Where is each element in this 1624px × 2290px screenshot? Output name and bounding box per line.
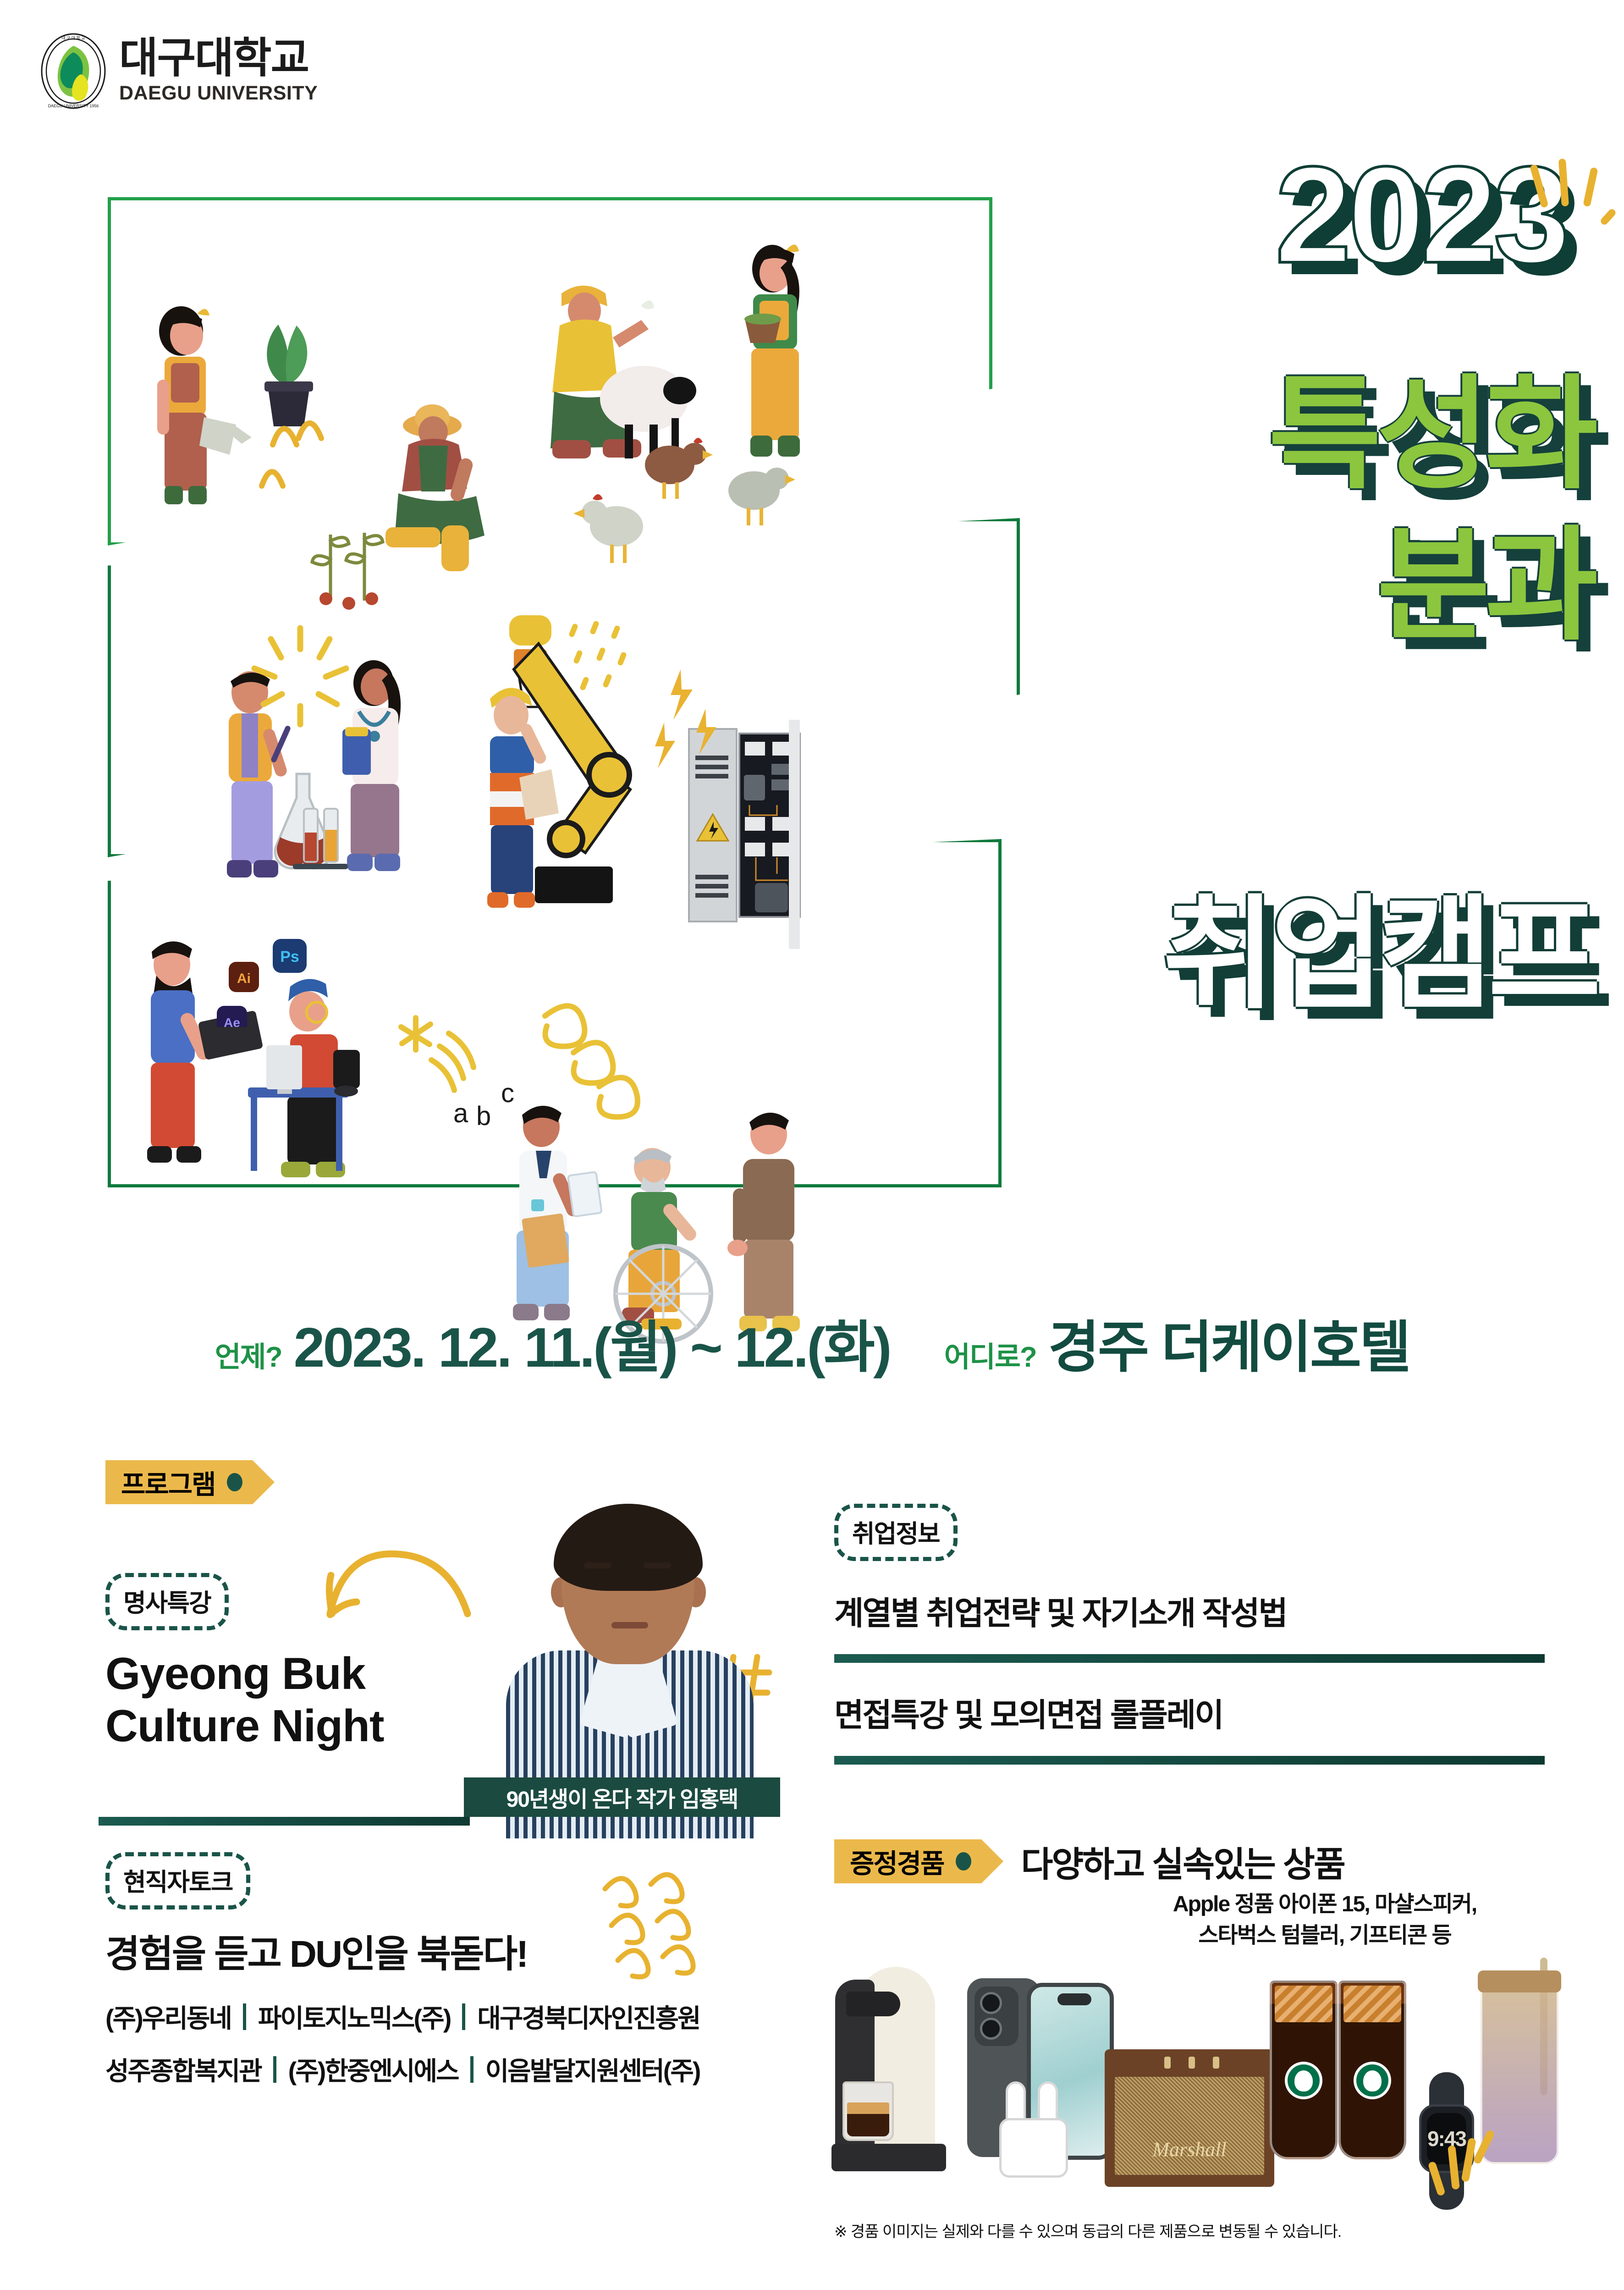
gift-detail-line1: Apple 정품 아이폰 15, 마샬스피커, [1109,1889,1540,1920]
job-info-badge: 취업정보 [834,1504,958,1561]
logo-english-name: DAEGU UNIVERSITY [119,82,318,105]
gift-headline: 다양하고 실속있는 상품 [1021,1836,1344,1887]
practitioner-talk-badge: 현직자토크 [105,1852,250,1909]
portrait-eye-right [646,1576,668,1584]
practitioner-talk-badge-wrap: 현직자토크 [105,1852,250,1909]
prize-sparkle-icon [1421,2118,1513,2205]
company-name: 파이토지노믹스(주) [258,1998,450,2035]
title-line-specialization: 특성화 [1268,374,1594,495]
program-tag-label: 프로그램 [121,1463,215,1501]
chicken-grey-icon [708,454,804,536]
gift-tag-dot-icon [956,1852,971,1871]
crop-plants-icon [305,491,433,610]
svg-text:a: a [453,1098,468,1128]
svg-text:Ae: Ae [224,1015,240,1027]
program-tag-dot-icon [227,1473,242,1491]
curved-arrow-icon [312,1522,481,1623]
company-separator [462,2003,465,2030]
job-info-item: 면접특강 및 모의면접 롤플레이 [834,1689,1545,1736]
company-name: 성주종합복지관 [105,2051,261,2088]
left-divider-rule [99,1817,470,1826]
when-label: 언제? [215,1334,282,1375]
program-tag: 프로그램 [105,1460,253,1504]
gift-tag-label: 증정경품 [850,1842,944,1881]
job-info-divider-rule [834,1654,1545,1663]
gift-detail: Apple 정품 아이폰 15, 마샬스피커, 스타벅스 텀블러, 기프티콘 등 [1109,1889,1540,1951]
company-list: (주)우리동네 파이토지노믹스(주) 대구경북디자인진흥원 성주종합복지관 (주… [105,1998,807,2103]
doodle-swirl-lines [596,1871,724,1981]
job-info-column: 취업정보 계열별 취업전략 및 자기소개 작성법 면접특강 및 모의면접 롤플레… [834,1504,1545,1765]
portrait-mouth [611,1622,648,1628]
svg-text:Ps: Ps [280,948,299,966]
celebrity-lecture-badge: 명사특강 [105,1573,229,1630]
marshall-speaker-image: Marshall [1105,2049,1274,2187]
adobe-app-icons: Ps Ai Ae [213,935,332,1027]
portrait-eye-left [587,1576,609,1584]
gift-header-row: 증정경품 다양하고 실속있는 상품 [834,1836,1344,1887]
company-name: 이음발달지원센터(주) [485,2051,700,2088]
title-line-division: 분과 [1377,525,1594,646]
gift-tag: 증정경품 [834,1839,981,1883]
svg-text:DAEGU UNIVERSITY 1956: DAEGU UNIVERSITY 1956 [48,104,99,108]
portrait-hair [554,1504,703,1591]
company-separator [243,2003,246,2030]
company-separator [273,2056,276,2083]
chicken-white-icon [571,486,667,573]
doodle-dots-rain [562,619,653,720]
airpods-image [990,2081,1082,2182]
title-line-job-camp: 취업캠프 [551,894,1596,1015]
company-name: 대구경북디자인진흥원 [477,1998,699,2035]
doodle-sparkle-rays [236,619,364,747]
university-logo: 대 구 대 학 교 DAEGU UNIVERSITY 1956 대구대학교 DA… [39,32,318,110]
svg-text:Ai: Ai [237,971,251,986]
company-separator [470,2056,473,2083]
job-info-divider-rule [834,1756,1545,1765]
lightning-bolts-icon [653,660,736,798]
where-label: 어디로? [944,1334,1036,1375]
logo-korean-name: 대구대학교 [119,37,318,79]
practitioner-talk-headline: 경험을 듣고 DU인을 북돋다! [105,1923,528,1978]
title-year: 2023 [923,151,1596,278]
company-name: (주)우리동네 [105,1998,231,2035]
illustration-area: Ps Ai Ae a b c [108,197,1024,1229]
title-sparkle-icon [1533,151,1611,234]
university-emblem-icon: 대 구 대 학 교 DAEGU UNIVERSITY 1956 [39,32,107,110]
company-row: (주)우리동네 파이토지노믹스(주) 대구경북디자인진흥원 [105,1998,807,2035]
doodle-spiral [529,995,681,1137]
portrait-brow-right [644,1562,671,1568]
event-date-venue-bar: 언제? 2023. 12. 11.(월) ~ 12.(화) 어디로? 경주 더케… [0,1302,1624,1383]
svg-text:대 구 대 학 교: 대 구 대 학 교 [61,36,85,40]
where-value: 경주 더케이호텔 [1048,1302,1409,1383]
nespresso-machine-image [830,1967,949,2173]
job-info-item: 계열별 취업전략 및 자기소개 작성법 [834,1588,1545,1634]
company-name: (주)한중엔시에스 [288,2051,458,2088]
portrait-brow-left [584,1562,611,1568]
company-row: 성주종합복지관 (주)한중엔시에스 이음발달지원센터(주) [105,2051,807,2088]
when-value: 2023. 12. 11.(월) ~ 12.(화) [294,1302,890,1383]
title-job-camp-text: 취업캠프 [1163,885,1596,1023]
lab-flask-icon [245,761,383,894]
poster-root: 대 구 대 학 교 DAEGU UNIVERSITY 1956 대구대학교 DA… [0,0,1624,2290]
speaker-caption: 90년생이 온다 작가 임홍택 [464,1777,780,1817]
gift-detail-line2: 스타벅스 텀블러, 기프티콘 등 [1109,1920,1540,1951]
figure-woman-with-pot [717,234,855,491]
poster-title-block: 2023 [923,151,1596,278]
gift-footnote: ※ 경품 이미지는 실제와 다를 수 있으며 동급의 다른 제품으로 변동될 수… [834,2219,1341,2241]
logo-wordmark: 대구대학교 DAEGU UNIVERSITY [119,37,318,105]
